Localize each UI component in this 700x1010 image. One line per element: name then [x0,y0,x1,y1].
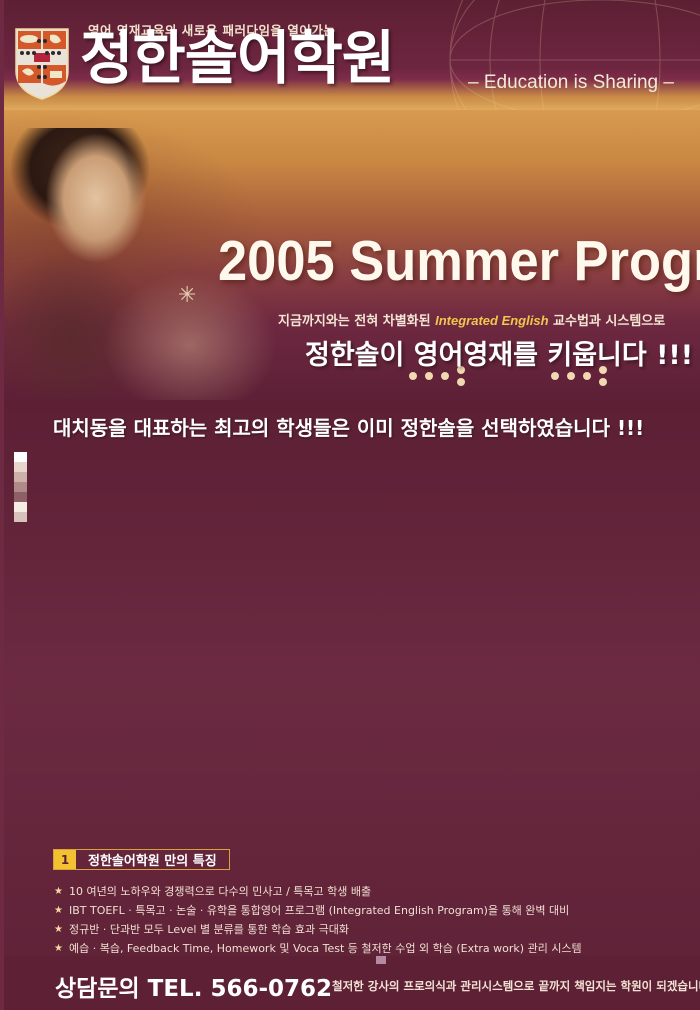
star-bullet-icon: ★ [54,922,63,938]
list-item: ★10 여년의 노하우와 경쟁력으로 다수의 민사고 / 특목고 학생 배출 [54,884,679,900]
hero-subline: 지금까지와는 전혀 차별화된 Integrated English 교수법과 시… [278,310,665,329]
section-1-number: 1 [54,850,76,869]
hero-subline-before: 지금까지와는 전혀 차별화된 [278,314,435,329]
poster-header: 영어 영재교육의 새로운 패러다임을 열어가는 정한솔어학원 – Educati… [0,0,700,110]
list-item: ★예습 · 복습, Feedback Time, Homework 및 Voca… [54,941,679,957]
poster-body: 대치동을 대표하는 최고의 학생들은 이미 정한솔을 선택하였습니다 !!! 1… [0,400,700,1010]
star-bullet-icon: ★ [54,903,63,919]
star-bullet-icon: ★ [54,941,63,957]
section-1-header: 1 정한솔어학원 만의 특징 [53,849,230,870]
academy-name: 정한솔어학원 [80,29,394,87]
body-headline: 대치동을 대표하는 최고의 학생들은 이미 정한솔을 선택하였습니다 !!! [53,412,644,441]
footer-accent-bar [376,956,386,964]
hero-subline-after: 교수법과 시스템으로 [549,314,666,329]
list-item-label: 10 여년의 노하우와 경쟁력으로 다수의 민사고 / 특목고 학생 배출 [69,884,679,900]
list-item: ★정규반 · 단과반 모두 Level 별 분류를 통한 학습 효과 극대화 [54,922,679,938]
poster: 영어 영재교육의 새로운 패러다임을 열어가는 정한솔어학원 – Educati… [0,0,700,1010]
sparkle-icon: ✳ [178,283,196,308]
header-tagline: – Education is Sharing – [468,72,674,94]
color-swatch-strip [14,452,27,522]
hero-title: 2005 Summer Program [218,228,700,294]
list-item-label: 정규반 · 단과반 모두 Level 별 분류를 통한 학습 효과 극대화 [69,922,679,938]
shield-crest-icon [14,27,70,101]
section-1-label: 정한솔어학원 만의 특징 [76,850,229,869]
left-edge-strip [0,0,4,1010]
footer-telephone: 상담문의 TEL. 566-0762 [55,969,332,1003]
hero-subline-accent: Integrated English [435,313,548,328]
poster-footer: 상담문의 TEL. 566-0762 철저한 강사의 프로의식과 관리시스템으로… [0,956,700,1010]
list-item-label: IBT TOEFL · 특목고 · 논술 · 유학을 통합영어 프로그램 (In… [69,903,679,919]
footer-note: 철저한 강사의 프로의식과 관리시스템으로 끝까지 책임지는 학원이 되겠습니다… [332,978,700,994]
hero-mainline: 정한솔이 영어영재를 키웁니다 !!! [305,333,693,372]
list-item-label: 예습 · 복습, Feedback Time, Homework 및 Voca … [69,941,679,957]
list-item: ★IBT TOEFL · 특목고 · 논술 · 유학을 통합영어 프로그램 (I… [54,903,679,919]
star-bullet-icon: ★ [54,884,63,900]
